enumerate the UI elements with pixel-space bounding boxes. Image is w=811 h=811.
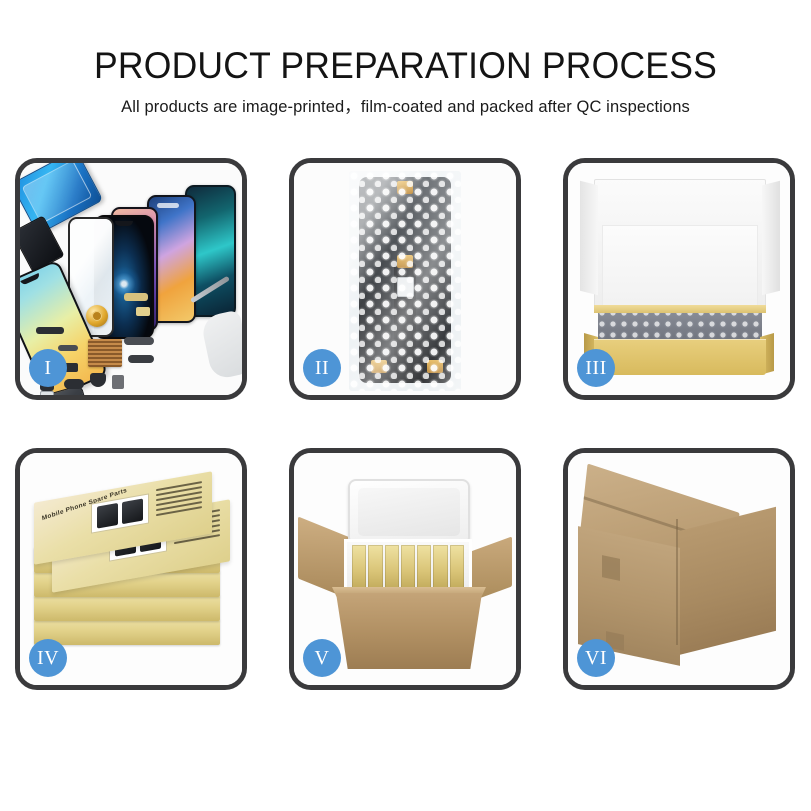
gold-contact-icon (136, 307, 150, 316)
step-badge-2: II (303, 349, 341, 387)
gold-flex-icon (124, 293, 148, 301)
carton-tape-upper-icon (602, 555, 620, 581)
carton-edge-icon (676, 519, 678, 645)
foam-lid-icon (348, 479, 470, 545)
carton-front-icon (336, 593, 482, 669)
screw-mesh-icon (88, 339, 122, 367)
flex-cable-2-icon (128, 355, 154, 363)
step-badge-4: IV (29, 639, 67, 677)
page-subtitle: All products are image-printed，film-coat… (0, 88, 811, 117)
page-header: PRODUCT PREPARATION PROCESS All products… (0, 0, 811, 117)
part-battery-icon (112, 375, 124, 389)
process-step-grid: I II (15, 158, 796, 732)
plastic-sheen-icon (349, 171, 461, 391)
stacked-box-2-icon (34, 595, 220, 621)
part-button-icon (64, 379, 84, 389)
step-badge-5: V (303, 639, 341, 677)
process-step-6: VI (563, 448, 795, 690)
hand-icon (200, 310, 242, 381)
flex-cable-3-icon (58, 345, 78, 351)
process-step-1: I (15, 158, 247, 400)
gold-boxes-inside-icon (352, 545, 464, 589)
gold-coil-icon (86, 305, 108, 327)
part-strip-icon (36, 327, 64, 334)
carton-side-face-icon (678, 507, 776, 655)
sim-tray-icon (40, 391, 54, 395)
part-speaker-icon (90, 373, 106, 387)
kraft-box-front-icon (594, 339, 766, 375)
box-rim-icon (594, 305, 766, 313)
step-badge-1: I (29, 349, 67, 387)
step-badge-3: III (577, 349, 615, 387)
page-title: PRODUCT PREPARATION PROCESS (16, 0, 795, 88)
bubble-wrapped-screens-icon (598, 309, 762, 343)
process-step-4: Mobile Phone Spare Parts Mobile Phone Sp… (15, 448, 247, 690)
step-badge-6: VI (577, 639, 615, 677)
process-step-3: III (563, 158, 795, 400)
process-step-5: V (289, 448, 521, 690)
box-spec-lines-back-icon (156, 481, 202, 523)
flex-cable-icon (124, 337, 154, 345)
stacked-box-1-icon (34, 619, 220, 645)
foam-sheet-icon (602, 225, 758, 311)
process-step-2: II (289, 158, 521, 400)
